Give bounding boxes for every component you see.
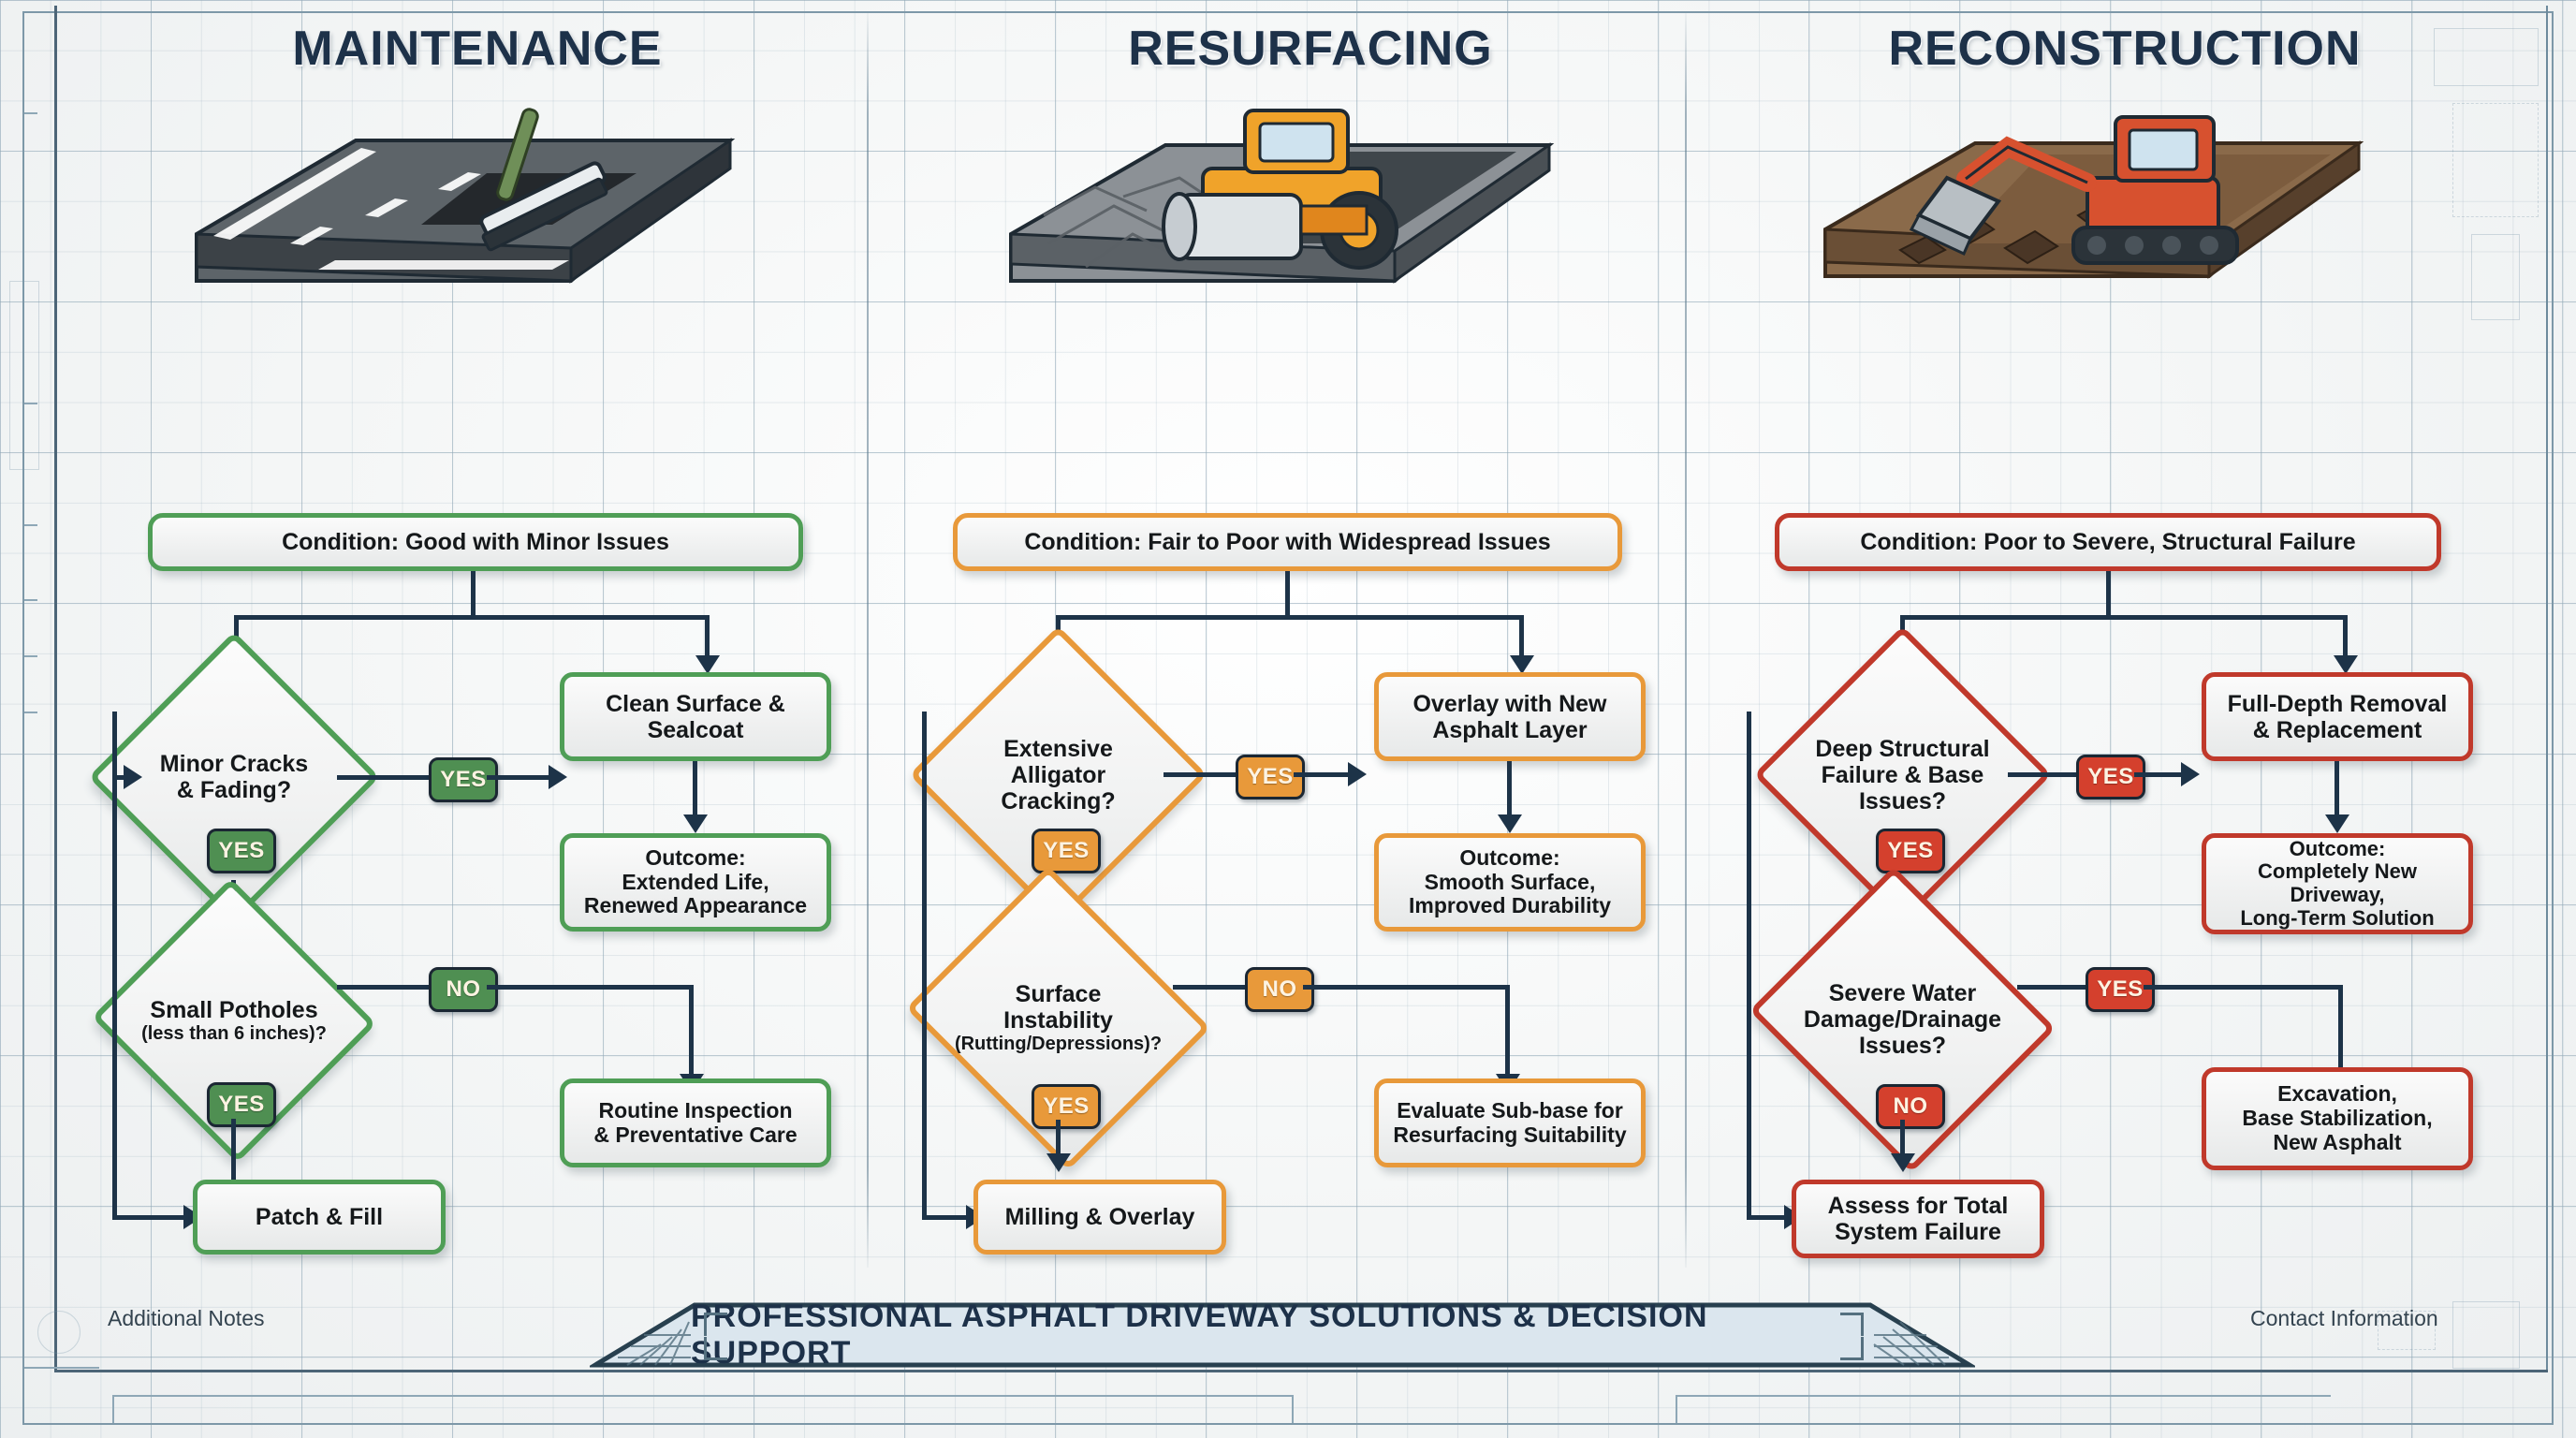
ghost-detail [37, 1311, 80, 1354]
connector [1164, 772, 1237, 777]
badge-yes: YES [2076, 755, 2145, 800]
connector [1303, 985, 1509, 990]
arrow-head [549, 765, 567, 789]
action-label: Routine Inspection& Preventative Care [593, 1099, 797, 1148]
decision-label: Small Potholes(less than 6 inches)? [131, 997, 337, 1044]
footer-right-note: Contact Information [2250, 1306, 2438, 1331]
outcome-box-maintenance: Outcome:Extended Life,Renewed Appearance [560, 833, 831, 932]
outcome-box-resurfacing: Outcome:Smooth Surface,Improved Durabili… [1374, 833, 1646, 932]
ghost-detail [2452, 1301, 2520, 1369]
corner-mark [704, 1337, 727, 1360]
arrow-head [683, 814, 708, 833]
decision-label: SurfaceInstability(Rutting/Depressions)? [944, 981, 1173, 1054]
badge-yes: YES [1032, 829, 1101, 873]
bottom-banner: PROFESSIONAL ASPHALT DRIVEWAY SOLUTIONS … [590, 1301, 1975, 1369]
action-box-evaluate-subbase: Evaluate Sub-base forResurfacing Suitabi… [1374, 1078, 1646, 1167]
condition-box-reconstruction: Condition: Poor to Severe, Structural Fa… [1775, 513, 2441, 571]
badge-no: NO [1245, 967, 1314, 1012]
condition-box-resurfacing: Condition: Fair to Poor with Widespread … [953, 513, 1622, 571]
connector [1900, 615, 2348, 620]
connector [1747, 712, 1751, 1217]
arrow-head [1348, 762, 1367, 786]
connector [2017, 985, 2087, 990]
outcome-label: Outcome:Completely New Driveway,Long-Ter… [2214, 838, 2461, 931]
ruler-tick [24, 524, 37, 526]
arrow-head [2325, 814, 2349, 833]
outcome-label: Outcome:Smooth Surface,Improved Durabili… [1409, 846, 1611, 918]
ruler-tick [24, 712, 37, 713]
ruler-tick [24, 112, 37, 114]
ruler-tick [112, 1395, 114, 1423]
connector [471, 571, 476, 618]
corner-mark [704, 1313, 727, 1336]
badge-yes: YES [2086, 967, 2155, 1012]
asphalt-squeegee-sealcoat-icon [178, 103, 749, 290]
connector [487, 985, 693, 990]
badge-yes: YES [1032, 1084, 1101, 1129]
ruler-tick [1292, 1395, 1294, 1423]
action-box-overlay-asphalt: Overlay with NewAsphalt Layer [1374, 672, 1646, 761]
column-divider [1685, 13, 1687, 1268]
action-box-routine-inspection: Routine Inspection& Preventative Care [560, 1078, 831, 1167]
arrow-head [695, 655, 720, 674]
infographic-canvas: MAINTENANCE RESURFACING RECONSTRUCTION [0, 0, 2576, 1438]
connector [2334, 761, 2339, 819]
ghost-detail [2471, 234, 2520, 320]
decision-label: Minor Cracks& Fading? [131, 751, 337, 803]
action-label: Excavation,Base Stabilization,New Asphal… [2242, 1082, 2432, 1154]
corner-mark [1840, 1313, 1864, 1336]
badge-yes: YES [1876, 829, 1945, 873]
arrow-head [1891, 1153, 1915, 1172]
ruler-tick [1676, 1395, 2331, 1397]
connector [2338, 985, 2343, 1078]
terminal-box-patch-fill: Patch & Fill [193, 1180, 446, 1255]
connector [2144, 985, 2342, 990]
decision-label: ExtensiveAlligatorCracking? [953, 736, 1164, 814]
road-roller-compactor-icon [992, 94, 1573, 290]
outcome-label: Outcome:Extended Life,Renewed Appearance [584, 846, 807, 918]
action-label: Clean Surface &Sealcoat [606, 691, 785, 743]
action-box-clean-sealcoat: Clean Surface &Sealcoat [560, 672, 831, 761]
connector [2134, 772, 2183, 777]
ruler-tick [112, 1395, 1292, 1397]
connector [2343, 615, 2348, 660]
connector [689, 985, 694, 1078]
connector [1507, 761, 1512, 819]
ruler-tick [1676, 1395, 1677, 1423]
column-title-reconstruction: RECONSTRUCTION [1704, 21, 2546, 77]
connector [1505, 985, 1510, 1078]
decision-label: Severe WaterDamage/DrainageIssues? [1788, 980, 2017, 1059]
column-divider [867, 13, 869, 1268]
footer-left-note: Additional Notes [108, 1306, 265, 1331]
ruler-tick [24, 599, 37, 601]
action-label: Evaluate Sub-base forResurfacing Suitabi… [1393, 1099, 1626, 1148]
action-label: Full-Depth Removal& Replacement [2228, 691, 2448, 743]
column-title-resurfacing: RESURFACING [889, 21, 1732, 77]
banner-title: PROFESSIONAL ASPHALT DRIVEWAY SOLUTIONS … [691, 1299, 1874, 1372]
corner-mark [1840, 1337, 1864, 1360]
connector [1294, 772, 1350, 777]
badge-yes: YES [1236, 755, 1305, 800]
connector [231, 1119, 236, 1180]
arrow-head [1498, 814, 1522, 833]
badge-no: NO [1876, 1084, 1945, 1129]
connector [487, 775, 550, 780]
arrow-head [1510, 655, 1534, 674]
ghost-detail [9, 281, 39, 470]
connector [1519, 615, 1524, 660]
terminal-box-milling-overlay: Milling & Overlay [973, 1180, 1226, 1255]
decision-label: Deep StructuralFailure & BaseIssues? [1797, 736, 2008, 814]
connector [1173, 985, 1246, 990]
arrow-head [2334, 655, 2358, 674]
terminal-label: Assess for TotalSystem Failure [1828, 1193, 2009, 1245]
banner-body: PROFESSIONAL ASPHALT DRIVEWAY SOLUTIONS … [691, 1301, 1874, 1369]
terminal-box-assess-total-failure: Assess for TotalSystem Failure [1792, 1180, 2044, 1258]
action-box-full-depth-removal: Full-Depth Removal& Replacement [2202, 672, 2473, 761]
badge-yes: YES [207, 829, 276, 873]
badge-yes: YES [429, 757, 498, 802]
connector [2008, 772, 2078, 777]
condition-box-maintenance: Condition: Good with Minor Issues [148, 513, 803, 571]
action-box-excavation-stabilization: Excavation,Base Stabilization,New Asphal… [2202, 1067, 2473, 1170]
badge-yes: YES [207, 1082, 276, 1127]
connector [705, 615, 710, 660]
connector [112, 712, 117, 1217]
outcome-box-reconstruction: Outcome:Completely New Driveway,Long-Ter… [2202, 833, 2473, 934]
connector [337, 985, 431, 990]
connector [337, 775, 431, 780]
excavator-demolition-icon [1807, 89, 2387, 290]
ruler-tick [24, 655, 37, 657]
connector [2106, 571, 2111, 618]
connector [1285, 571, 1290, 618]
column-title-maintenance: MAINTENANCE [56, 21, 899, 77]
connector [234, 615, 710, 620]
action-label: Overlay with NewAsphalt Layer [1412, 691, 1606, 743]
arrow-head [1046, 1153, 1071, 1172]
connector [1056, 615, 1524, 620]
connector [112, 1215, 192, 1220]
ghost-detail [2452, 103, 2539, 217]
badge-no: NO [429, 967, 498, 1012]
ruler-tick [24, 1367, 99, 1369]
arrow-head [2181, 762, 2200, 786]
connector [693, 761, 697, 819]
connector [922, 712, 927, 1217]
